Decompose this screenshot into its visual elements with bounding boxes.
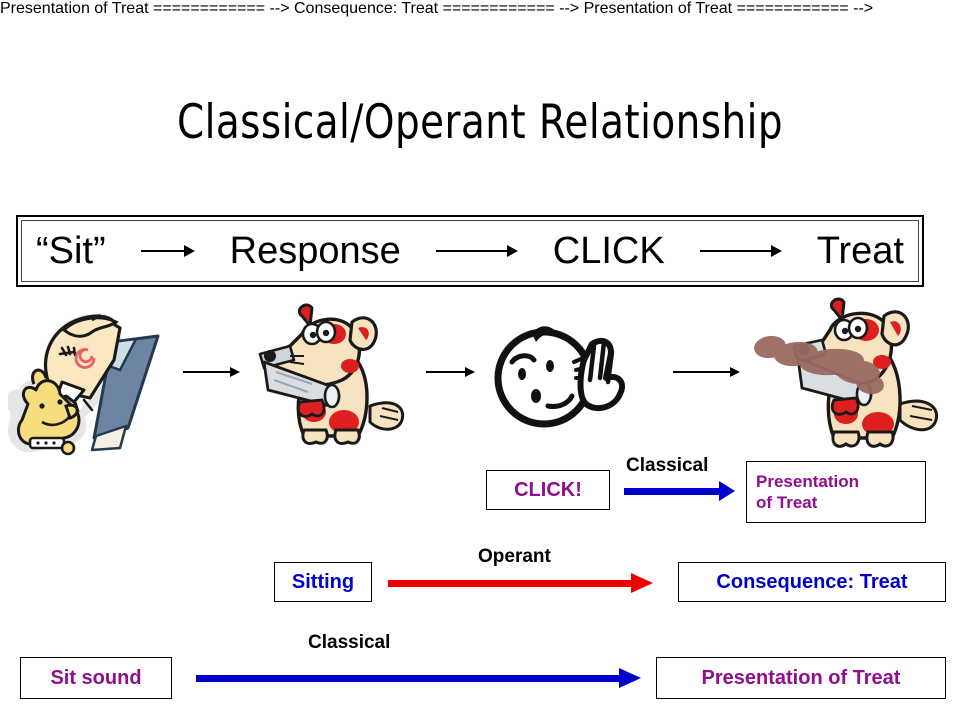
chain-term-click: CLICK [553, 232, 665, 270]
click-source-label: CLICK! [514, 479, 582, 502]
arrow-right-icon [673, 364, 740, 380]
page-title: Classical/Operant Relationship [38, 95, 921, 151]
classical-label-top: Classical [626, 455, 708, 477]
spotted-dog-sitting-with-newspaper-image [246, 294, 416, 454]
sitting-source-label: Sitting [292, 571, 354, 594]
illustration-strip [0, 292, 960, 460]
arrow-right-icon [141, 241, 195, 261]
presentation-of-treat-line1: Presentation [756, 471, 859, 492]
classical-arrow-top [624, 481, 735, 501]
chain-sequence-box: “Sit” Response CLICK Treat [16, 215, 924, 287]
consequence-treat-box[interactable]: Consequence: Treat [678, 562, 946, 602]
arrow-right-icon [700, 241, 782, 261]
click-source-box[interactable]: CLICK! [486, 470, 610, 510]
sit-sound-label: Sit sound [50, 667, 141, 690]
presentation-of-treat-bottom-label: Presentation of Treat [702, 667, 901, 690]
person-shouting-sit-at-dog-image [8, 298, 188, 458]
arrow-right-icon [426, 364, 475, 380]
operant-label: Operant [478, 546, 551, 568]
sitting-source-box[interactable]: Sitting [274, 562, 372, 602]
presentation-of-treat-line2: of Treat [756, 492, 817, 513]
chain-term-response: Response [230, 232, 401, 270]
consequence-treat-label: Consequence: Treat [716, 571, 907, 594]
operant-arrow [388, 573, 653, 593]
presentation-of-treat-box-top[interactable]: Presentation of Treat [746, 461, 926, 523]
classical-label-bottom: Classical [308, 632, 390, 654]
face-listening-hand-to-ear-image [488, 320, 628, 440]
arrow-right-icon [436, 241, 518, 261]
chain-term-treat: Treat [817, 232, 904, 270]
presentation-of-treat-box-bottom[interactable]: Presentation of Treat [656, 657, 946, 699]
sit-sound-source-box[interactable]: Sit sound [20, 657, 172, 699]
arrow-right-icon [183, 364, 240, 380]
classical-arrow-bottom [196, 668, 641, 688]
chain-sequence-inner: “Sit” Response CLICK Treat [21, 220, 919, 282]
chain-term-sit: “Sit” [36, 232, 106, 270]
spotted-dog-receiving-treat-image [750, 292, 950, 457]
